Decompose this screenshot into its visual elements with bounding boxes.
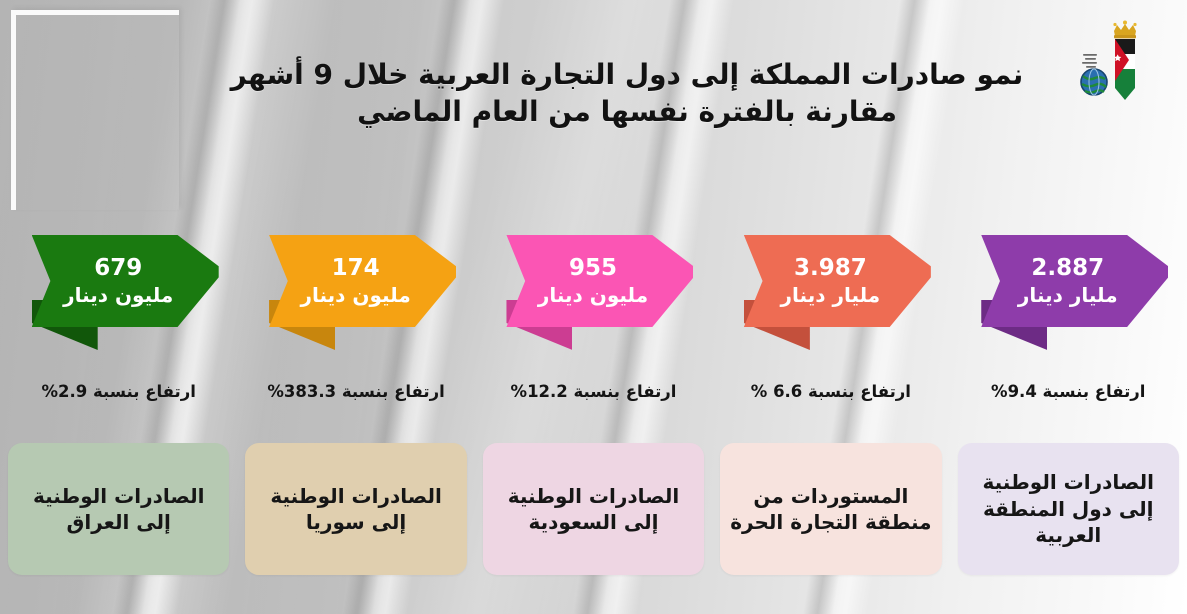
metric-card: 2.887 مليار دينار ارتفاع بنسبة 9.4% <box>950 222 1187 412</box>
metric-card: 3.987 مليار دينار ارتفاع بنسبة 6.6 % <box>712 222 949 412</box>
category-label-cell: الصادرات الوطنية إلى العراق <box>0 443 237 575</box>
metric-value: 679 <box>94 255 142 281</box>
metric-unit: مليون دينار <box>300 283 410 307</box>
category-label-cell: المستوردات من منطقة التجارة الحرة <box>712 443 949 575</box>
category-label-arab-region: الصادرات الوطنية إلى دول المنطقة العربية <box>958 443 1179 575</box>
metric-unit: مليار دينار <box>1018 283 1118 307</box>
metric-change-label: ارتفاع بنسبة 9.4% <box>950 382 1187 401</box>
metric-unit: مليار دينار <box>781 283 881 307</box>
metric-unit: مليون دينار <box>538 283 648 307</box>
page-title: نمو صادرات المملكة إلى دول التجارة العرب… <box>197 56 1057 130</box>
category-label-cell: الصادرات الوطنية إلى السعودية <box>475 443 712 575</box>
jordan-flag-crown-globe-logo-icon <box>1077 20 1169 108</box>
metric-unit: مليون دينار <box>63 283 173 307</box>
banner-body: 3.987 مليار دينار <box>744 235 931 327</box>
category-label-syria: الصادرات الوطنية إلى سوريا <box>245 443 466 575</box>
category-labels-row: الصادرات الوطنية إلى العراق الصادرات الو… <box>0 443 1187 575</box>
metric-card: 174 مليون دينار ارتفاع بنسبة 383.3% <box>237 222 474 412</box>
metric-change-label: ارتفاع بنسبة 2.9% <box>0 382 237 401</box>
infographic-canvas: نمو صادرات المملكة إلى دول التجارة العرب… <box>0 0 1187 614</box>
metric-card: 955 مليون دينار ارتفاع بنسبة 12.2% <box>475 222 712 412</box>
banner-body: 2.887 مليار دينار <box>981 235 1168 327</box>
metric-card: 679 مليون دينار ارتفاع بنسبة 2.9% <box>0 222 237 412</box>
category-label-free-trade-zone: المستوردات من منطقة التجارة الحرة <box>720 443 941 575</box>
banner-body: 955 مليون دينار <box>506 235 693 327</box>
metric-value: 955 <box>569 255 617 281</box>
metric-banner: 174 مليون دينار <box>251 222 461 357</box>
metric-cards-row: 679 مليون دينار ارتفاع بنسبة 2.9% 174 مل… <box>0 222 1187 412</box>
category-label-iraq: الصادرات الوطنية إلى العراق <box>8 443 229 575</box>
metric-banner: 3.987 مليار دينار <box>726 222 936 357</box>
corner-frame-decoration-icon <box>11 10 179 210</box>
metric-value: 2.887 <box>1031 255 1104 281</box>
metric-change-label: ارتفاع بنسبة 383.3% <box>237 382 474 401</box>
banner-body: 679 مليون دينار <box>32 235 219 327</box>
metric-value: 3.987 <box>794 255 867 281</box>
category-label-cell: الصادرات الوطنية إلى سوريا <box>237 443 474 575</box>
metric-value: 174 <box>332 255 380 281</box>
metric-banner: 955 مليون دينار <box>488 222 698 357</box>
banner-body: 174 مليون دينار <box>269 235 456 327</box>
metric-change-label: ارتفاع بنسبة 12.2% <box>475 382 712 401</box>
metric-banner: 2.887 مليار دينار <box>963 222 1173 357</box>
metric-banner: 679 مليون دينار <box>14 222 224 357</box>
category-label-saudi: الصادرات الوطنية إلى السعودية <box>483 443 704 575</box>
category-label-cell: الصادرات الوطنية إلى دول المنطقة العربية <box>950 443 1187 575</box>
metric-change-label: ارتفاع بنسبة 6.6 % <box>712 382 949 401</box>
